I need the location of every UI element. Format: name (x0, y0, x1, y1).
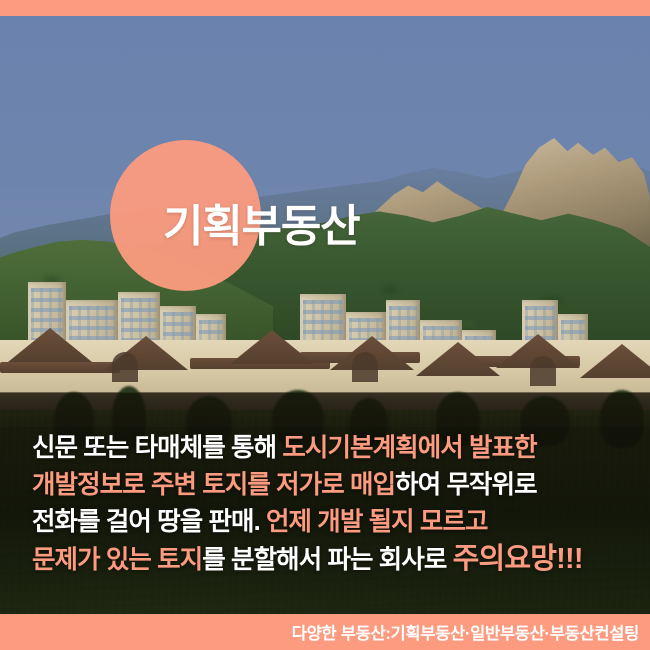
copy-line-3-accent: 언제 개발 될지 모르고 (266, 508, 488, 536)
copy-line-4-accent: 문제가 있는 토지 (32, 546, 202, 574)
copy-line-2: 개발정보로 주변 토지를 저가로 매입하여 무작위로 (32, 467, 632, 504)
copy-line-4: 문제가 있는 토지를 분할해서 파는 회사로 주의요망!!! (32, 541, 632, 579)
copy-line-3-white: 전화를 걸어 땅을 판매. (32, 508, 266, 536)
copy-line-3: 전화를 걸어 땅을 판매. 언제 개발 될지 모르고 (32, 504, 632, 541)
page-title: 기획부동산 (163, 190, 359, 254)
copy-line-2-accent: 개발정보로 주변 토지를 저가로 매입 (32, 471, 395, 499)
body-copy: 신문 또는 타매체를 통해 도시기본계획에서 발표한 개발정보로 주변 토지를 … (32, 430, 632, 579)
bottom-accent-bar: 다양한 부동산:기획부동산·일반부동산·부동산컨설팅 (0, 614, 650, 650)
footer-tagline: 다양한 부동산:기획부동산·일반부동산·부동산컨설팅 (292, 620, 639, 644)
villa-arch-window (112, 352, 138, 382)
copy-line-1: 신문 또는 타매체를 통해 도시기본계획에서 발표한 (32, 430, 632, 467)
promo-card: 기획부동산 신문 또는 타매체를 통해 도시기본계획에서 발표한 개발정보로 주… (0, 0, 650, 650)
copy-line-1-accent: 도시기본계획에서 발표한 (282, 434, 536, 462)
copy-line-1-white: 신문 또는 타매체를 통해 (32, 434, 282, 462)
copy-line-4-white: 를 분할해서 파는 회사로 (202, 546, 452, 574)
photo-shade-upper (0, 393, 650, 427)
villa-arch-window (352, 352, 378, 382)
villa-roof (0, 362, 120, 373)
villa-arch-window (530, 356, 556, 386)
warning-callout: 주의요망!!! (453, 543, 583, 575)
top-accent-bar (0, 0, 650, 16)
copy-line-2-white: 하여 무작위로 (395, 471, 537, 499)
